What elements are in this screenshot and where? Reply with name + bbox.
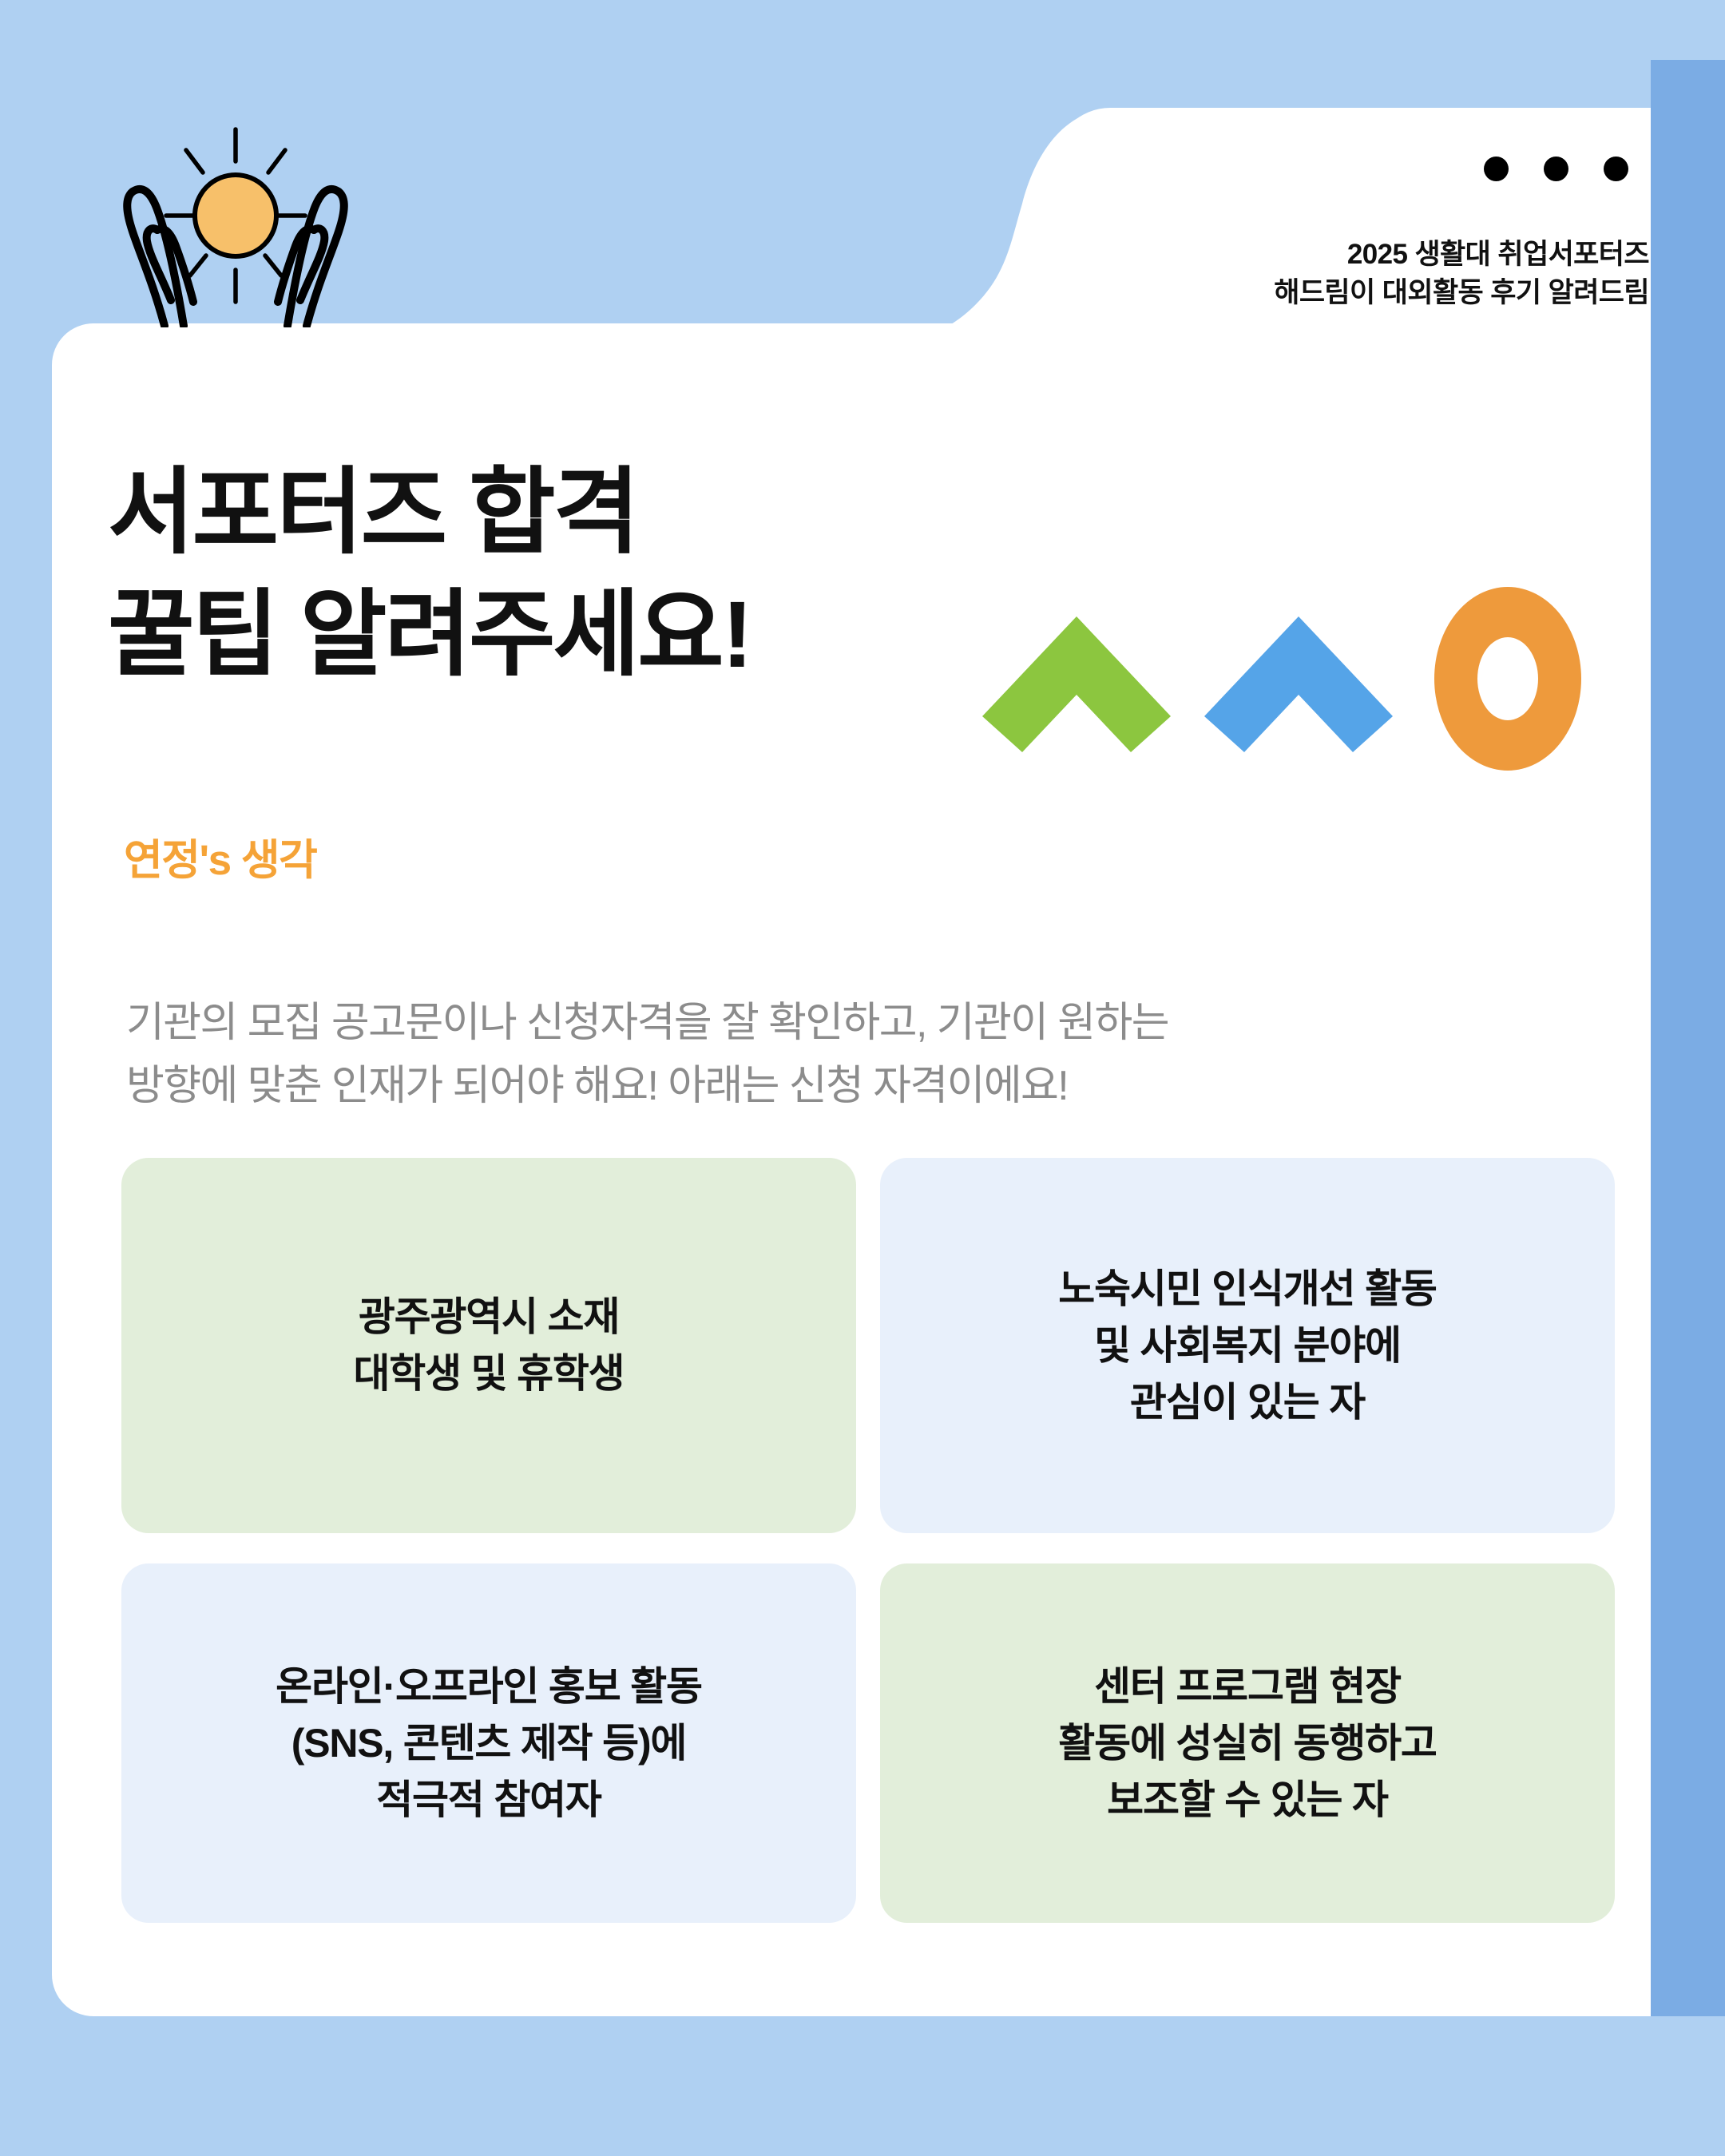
chevron-up-blue-icon [1204, 616, 1393, 752]
qualification-card-grid: 광주광역시 소재 대학생 및 휴학생 노숙시민 인식개선 활동 및 사회복지 분… [121, 1158, 1615, 1923]
qualification-card-2-text: 노숙시민 인식개선 활동 및 사회복지 분야에 관심이 있는 자 [1058, 1261, 1436, 1431]
panel-curve-connector [910, 108, 1118, 339]
dot-3 [1604, 157, 1628, 181]
qualification-card-3-text: 온라인·오프라인 홍보 활동 (SNS, 콘텐츠 제작 등)에 적극적 참여자 [276, 1659, 702, 1829]
qualification-card-1-text: 광주광역시 소재 대학생 및 휴학생 [354, 1289, 625, 1402]
page-title: 서포터즈 합격 꿀팁 알려주세요! [108, 452, 751, 697]
poster-canvas: 2025 생활대 취업서포터즈 해드림이 대외활동 후기 알려드림 서포터즈 합… [0, 0, 1725, 2156]
three-dots-decoration [1484, 157, 1628, 181]
hands-holding-sun-icon [104, 112, 367, 327]
section-subtitle: 연정's 생각 [124, 826, 316, 887]
decoration-shapes [973, 577, 1612, 776]
dot-2 [1544, 157, 1568, 181]
qualification-card-4-text: 센터 프로그램 현장 활동에 성실히 동행하고 보조할 수 있는 자 [1058, 1659, 1436, 1829]
right-accent-band [1651, 60, 1725, 2016]
qualification-card-2: 노숙시민 인식개선 활동 및 사회복지 분야에 관심이 있는 자 [880, 1158, 1615, 1533]
qualification-card-1: 광주광역시 소재 대학생 및 휴학생 [121, 1158, 856, 1533]
chevron-up-green-icon [982, 616, 1171, 752]
qualification-card-4: 센터 프로그램 현장 활동에 성실히 동행하고 보조할 수 있는 자 [880, 1563, 1615, 1923]
kicker-text: 2025 생활대 취업서포터즈 해드림이 대외활동 후기 알려드림 [1274, 236, 1649, 313]
section-body-text: 기관의 모집 공고문이나 신청자격을 잘 확인하고, 기관이 원하는 방향에 맞… [126, 992, 1580, 1118]
dot-1 [1484, 157, 1509, 181]
ring-orange-icon [1434, 587, 1581, 771]
qualification-card-3: 온라인·오프라인 홍보 활동 (SNS, 콘텐츠 제작 등)에 적극적 참여자 [121, 1563, 856, 1923]
